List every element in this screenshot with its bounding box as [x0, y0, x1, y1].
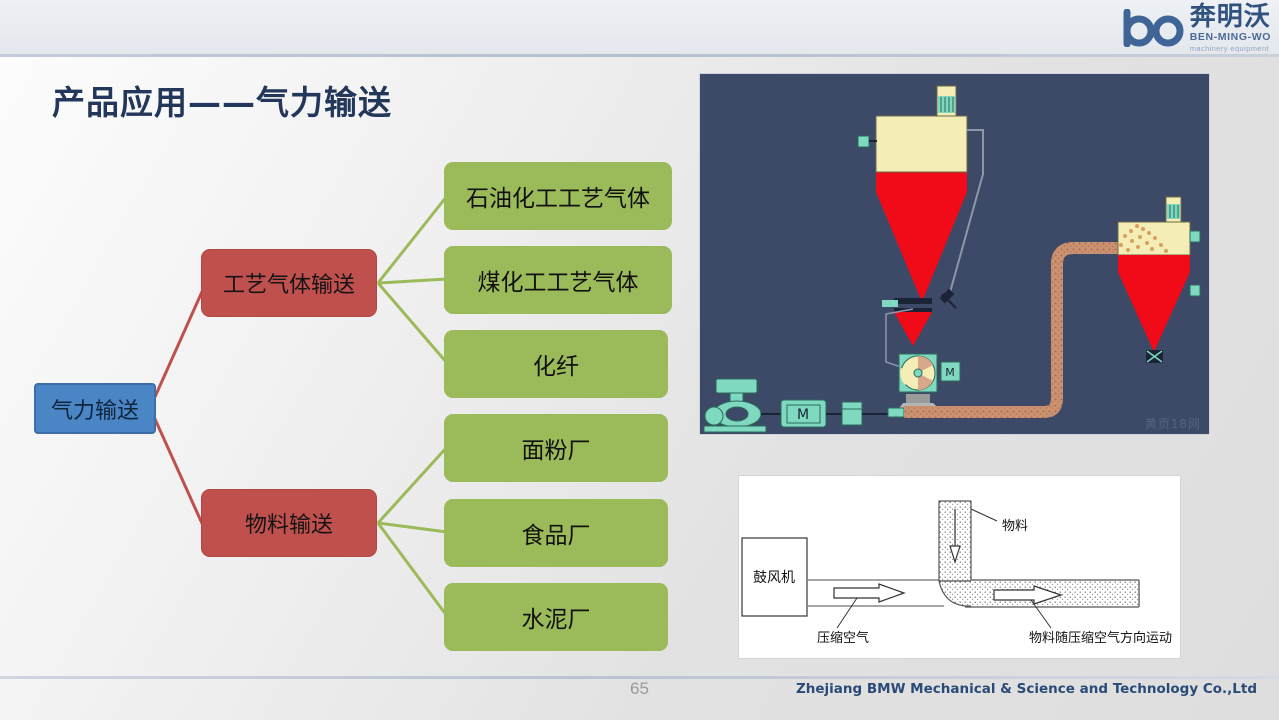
- node-branch-material[interactable]: 物料输送: [201, 489, 377, 557]
- logo-english-name: BEN-MING-WO: [1190, 32, 1271, 43]
- connector-branch-1-leaf-1: [378, 196, 447, 283]
- svg-text:M: M: [945, 366, 955, 379]
- application-tree-diagram: 气力输送 工艺气体输送 物料输送 石油化工工艺气体 煤化工工艺气体 化纤 面粉厂…: [0, 130, 700, 670]
- schematic-blower-label: 鼓风机: [753, 570, 795, 586]
- node-leaf-flour-mill[interactable]: 面粉厂: [444, 414, 668, 482]
- connector-root-to-branch-2: [150, 408, 205, 530]
- schematic-material-label: 物料: [1002, 519, 1028, 534]
- schematic-flow-label: 物料随压缩空气方向运动: [1029, 630, 1172, 646]
- schematic-compressed-air-label: 压缩空气: [817, 630, 869, 646]
- connector-branch-1-leaf-2: [378, 279, 447, 283]
- node-branch-process-gas[interactable]: 工艺气体输送: [201, 249, 377, 317]
- connector-branch-2-leaf-2: [378, 523, 447, 532]
- logo-tagline: machinery equipment: [1190, 45, 1271, 53]
- conveying-principle-schematic: 鼓风机: [738, 475, 1181, 659]
- connector-branch-2-leaf-3: [378, 523, 447, 616]
- header-divider: [0, 54, 1279, 57]
- node-leaf-petrochemical-gas[interactable]: 石油化工工艺气体: [444, 162, 672, 230]
- header-band: [0, 0, 1279, 56]
- page-title: 产品应用——气力输送: [52, 76, 392, 124]
- svg-text:M: M: [797, 407, 809, 423]
- schematic-drawing: 鼓风机: [739, 476, 1181, 659]
- node-leaf-chemical-fiber[interactable]: 化纤: [444, 330, 668, 398]
- slide: 奔明沃 BEN-MING-WO machinery equipment 产品应用…: [0, 0, 1279, 720]
- process-illustration: M M: [700, 74, 1210, 435]
- node-leaf-food-factory[interactable]: 食品厂: [444, 499, 668, 567]
- pneumatic-conveying-process-image: M M: [699, 73, 1210, 435]
- image-watermark: 黄页18网: [1145, 415, 1201, 432]
- connector-branch-2-leaf-1: [378, 447, 447, 523]
- logo-chinese-name: 奔明沃: [1190, 4, 1271, 30]
- logo-bo-mark: [1120, 9, 1186, 47]
- node-leaf-coal-chemical-gas[interactable]: 煤化工工艺气体: [444, 246, 672, 314]
- node-root[interactable]: 气力输送: [34, 383, 156, 434]
- connector-root-to-branch-1: [150, 285, 205, 408]
- node-leaf-cement-plant[interactable]: 水泥厂: [444, 583, 668, 651]
- footer-company-name: Zhejiang BMW Mechanical & Science and Te…: [796, 681, 1257, 697]
- connector-branch-1-leaf-3: [378, 283, 447, 363]
- company-logo: 奔明沃 BEN-MING-WO machinery equipment: [1093, 2, 1271, 54]
